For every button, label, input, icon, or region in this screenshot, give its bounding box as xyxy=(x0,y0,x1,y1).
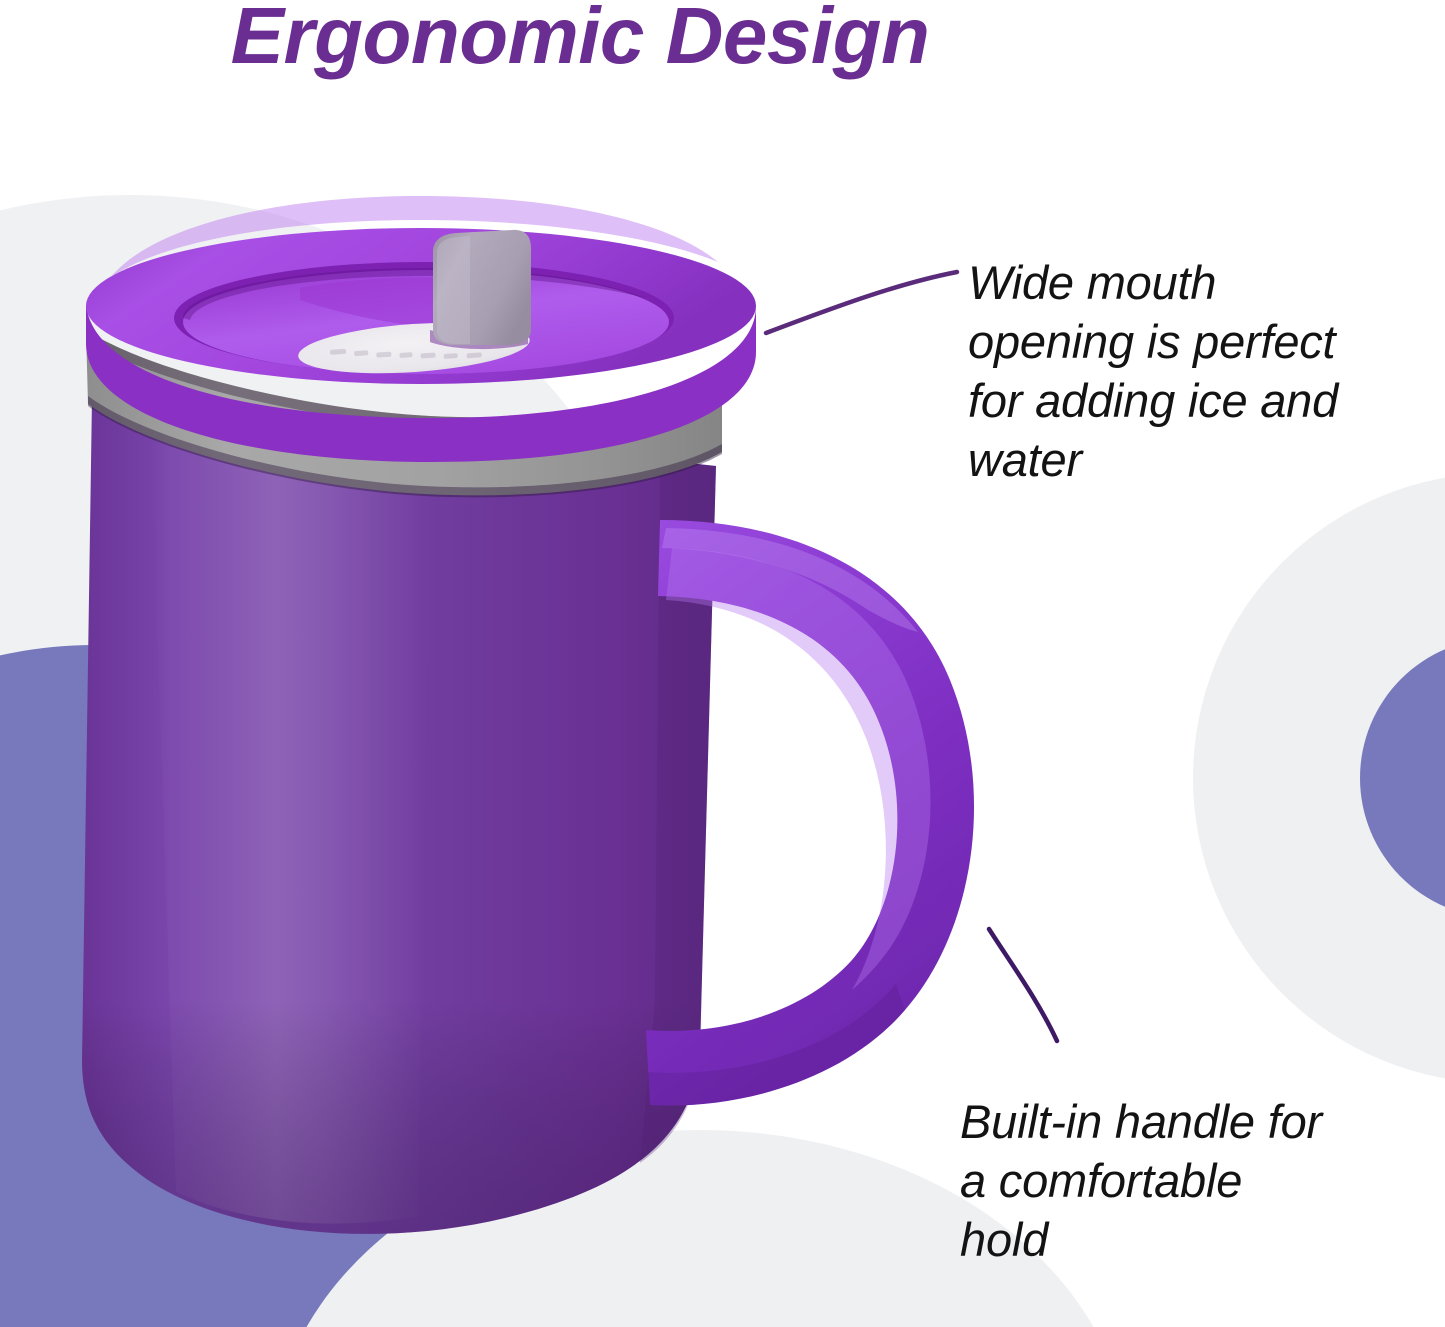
callout-line: for adding ice and xyxy=(968,371,1388,430)
callout-line: Wide mouth xyxy=(968,253,1388,312)
infographic-page: Ergonomic Design Wide mouth opening is p… xyxy=(0,0,1445,1327)
callout-line: hold xyxy=(960,1210,1360,1269)
callout-line-bottom xyxy=(989,929,1057,1041)
callout-line: opening is perfect xyxy=(968,312,1388,371)
callout-line-top xyxy=(766,272,957,333)
callout-line: a comfortable xyxy=(960,1151,1360,1210)
callout-line: water xyxy=(968,430,1388,489)
page-title: Ergonomic Design xyxy=(0,0,1445,78)
callout-built-in-handle: Built-in handle for a comfortable hold xyxy=(960,1092,1360,1269)
callout-wide-mouth: Wide mouth opening is perfect for adding… xyxy=(968,253,1388,489)
callout-line: Built-in handle for xyxy=(960,1092,1360,1151)
